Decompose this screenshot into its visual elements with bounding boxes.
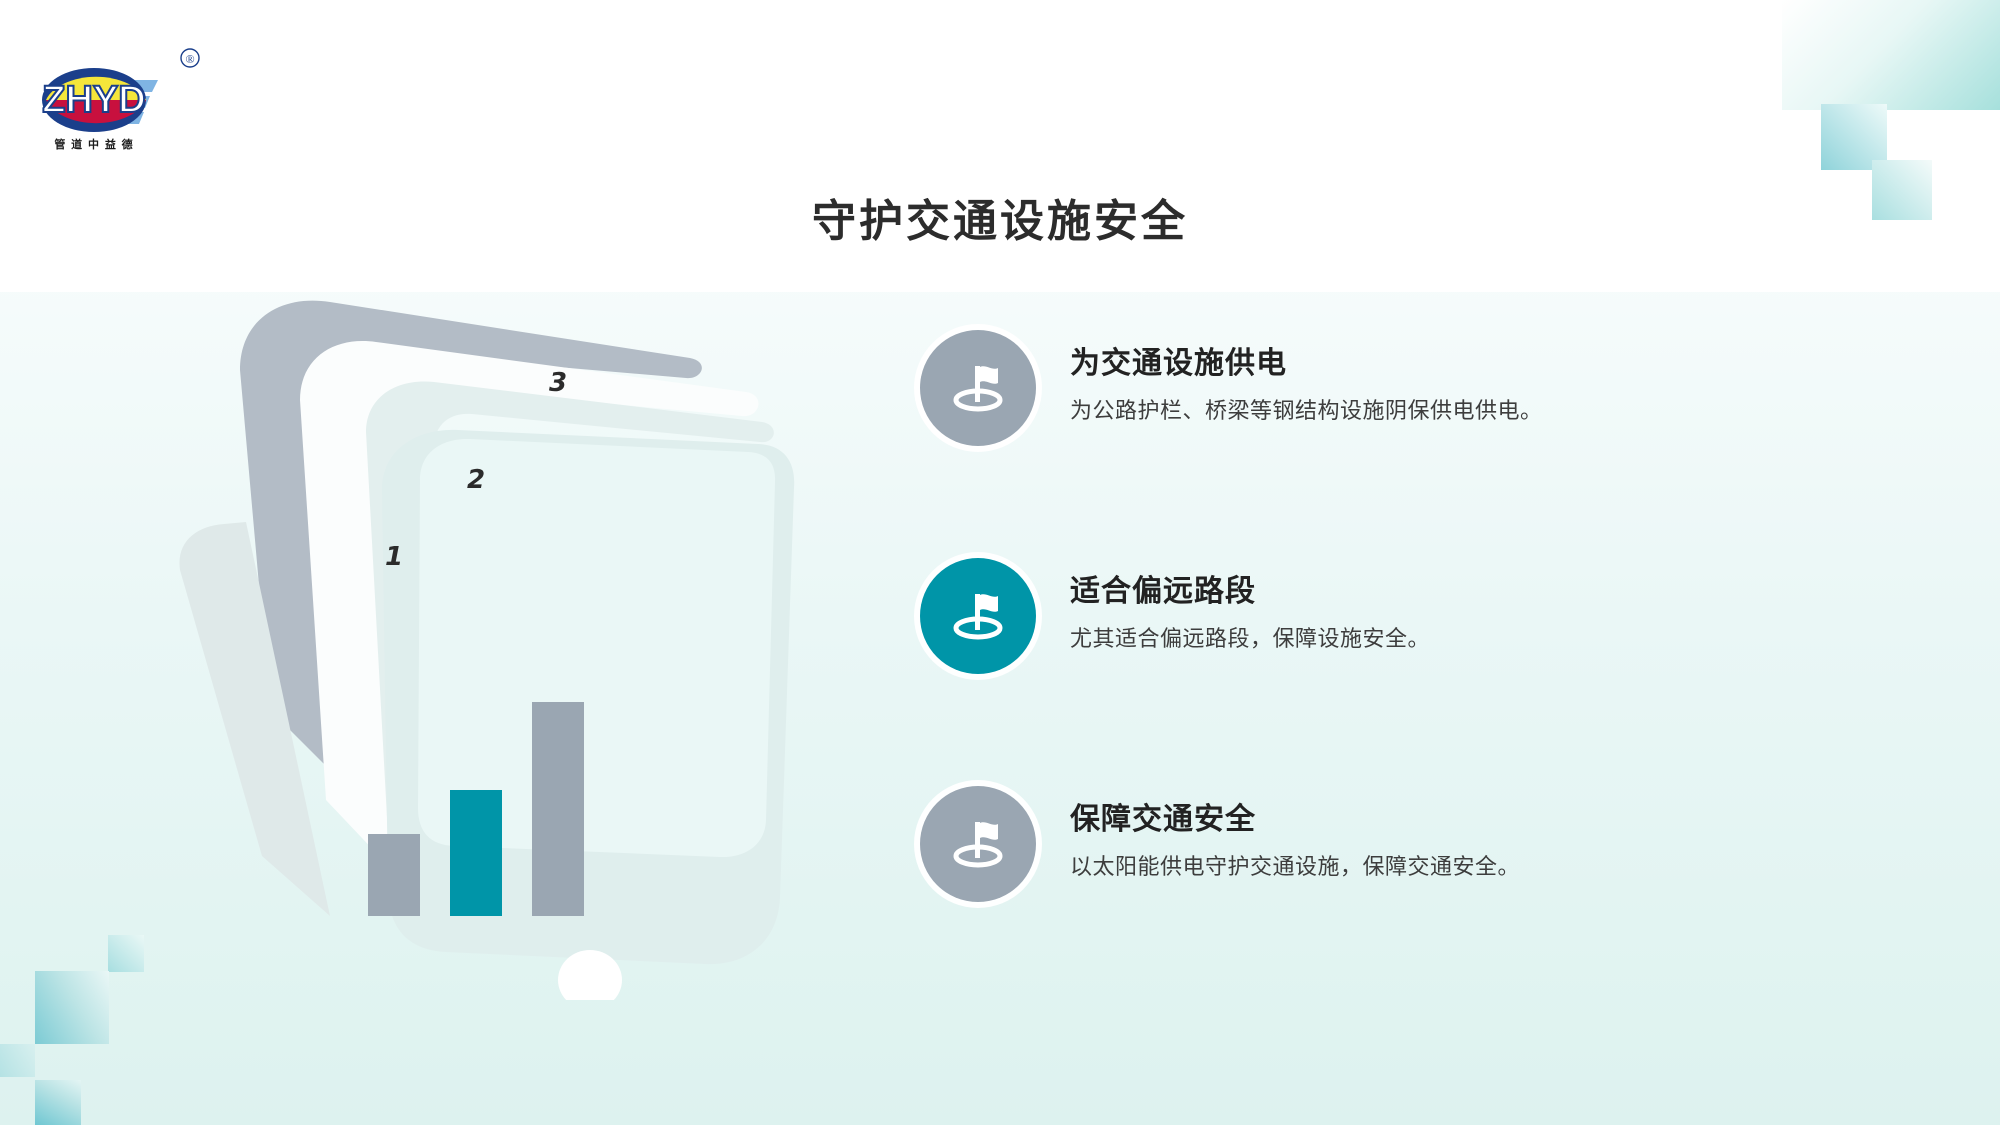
decorative-square-top-right-large — [1782, 0, 2000, 110]
feature-item-2[interactable]: 适合偏远路段 尤其适合偏远路段，保障设施安全。 — [920, 558, 1930, 678]
feature-text-3: 保障交通安全 以太阳能供电守护交通设施，保障交通安全。 — [1070, 786, 1520, 883]
decorative-square-bottom-left-4 — [35, 1080, 81, 1125]
logo-brand-text: ZHYD — [42, 79, 145, 121]
feature-title-2: 适合偏远路段 — [1070, 566, 1430, 610]
feature-title-3: 保障交通安全 — [1070, 794, 1520, 838]
feature-text-2: 适合偏远路段 尤其适合偏远路段，保障设施安全。 — [1070, 558, 1430, 655]
feature-icon-circle-1 — [920, 330, 1036, 446]
golf-flag-icon — [946, 356, 1010, 420]
feature-desc-3: 以太阳能供电守护交通设施，保障交通安全。 — [1070, 852, 1520, 883]
company-logo: ZHYD ® 管 道 中 益 德 — [40, 44, 202, 152]
feature-title-1: 为交通设施供电 — [1070, 338, 1543, 382]
feature-list: 为交通设施供电 为公路护栏、桥梁等钢结构设施阴保供电供电。 适合偏远路段 尤其适… — [920, 330, 1930, 906]
decorative-square-bottom-left-3 — [0, 1044, 35, 1077]
logo-subtitle: 管 道 中 益 德 — [54, 137, 133, 151]
decorative-square-bottom-left-1 — [108, 935, 144, 972]
feature-icon-circle-3 — [920, 786, 1036, 902]
page-title: 守护交通设施安全 — [0, 185, 2000, 249]
feature-item-3[interactable]: 保障交通安全 以太阳能供电守护交通设施，保障交通安全。 — [920, 786, 1930, 906]
feature-text-1: 为交通设施供电 为公路护栏、桥梁等钢结构设施阴保供电供电。 — [1070, 330, 1543, 427]
golf-flag-icon — [946, 584, 1010, 648]
device-screen — [418, 439, 775, 857]
tablet-illustration — [150, 280, 810, 1000]
svg-text:®: ® — [185, 52, 194, 66]
slide-canvas: ZHYD ® 管 道 中 益 德 守护交通设施安全 — [0, 0, 2000, 1125]
feature-desc-2: 尤其适合偏远路段，保障设施安全。 — [1070, 624, 1430, 655]
logo-emblem-icon: ZHYD — [42, 68, 146, 132]
decorative-square-bottom-left-2 — [35, 971, 109, 1044]
feature-icon-circle-2 — [920, 558, 1036, 674]
feature-item-1[interactable]: 为交通设施供电 为公路护栏、桥梁等钢结构设施阴保供电供电。 — [920, 330, 1930, 450]
feature-desc-1: 为公路护栏、桥梁等钢结构设施阴保供电供电。 — [1070, 396, 1543, 427]
golf-flag-icon — [946, 812, 1010, 876]
logo-registered-icon: ® — [181, 49, 199, 67]
